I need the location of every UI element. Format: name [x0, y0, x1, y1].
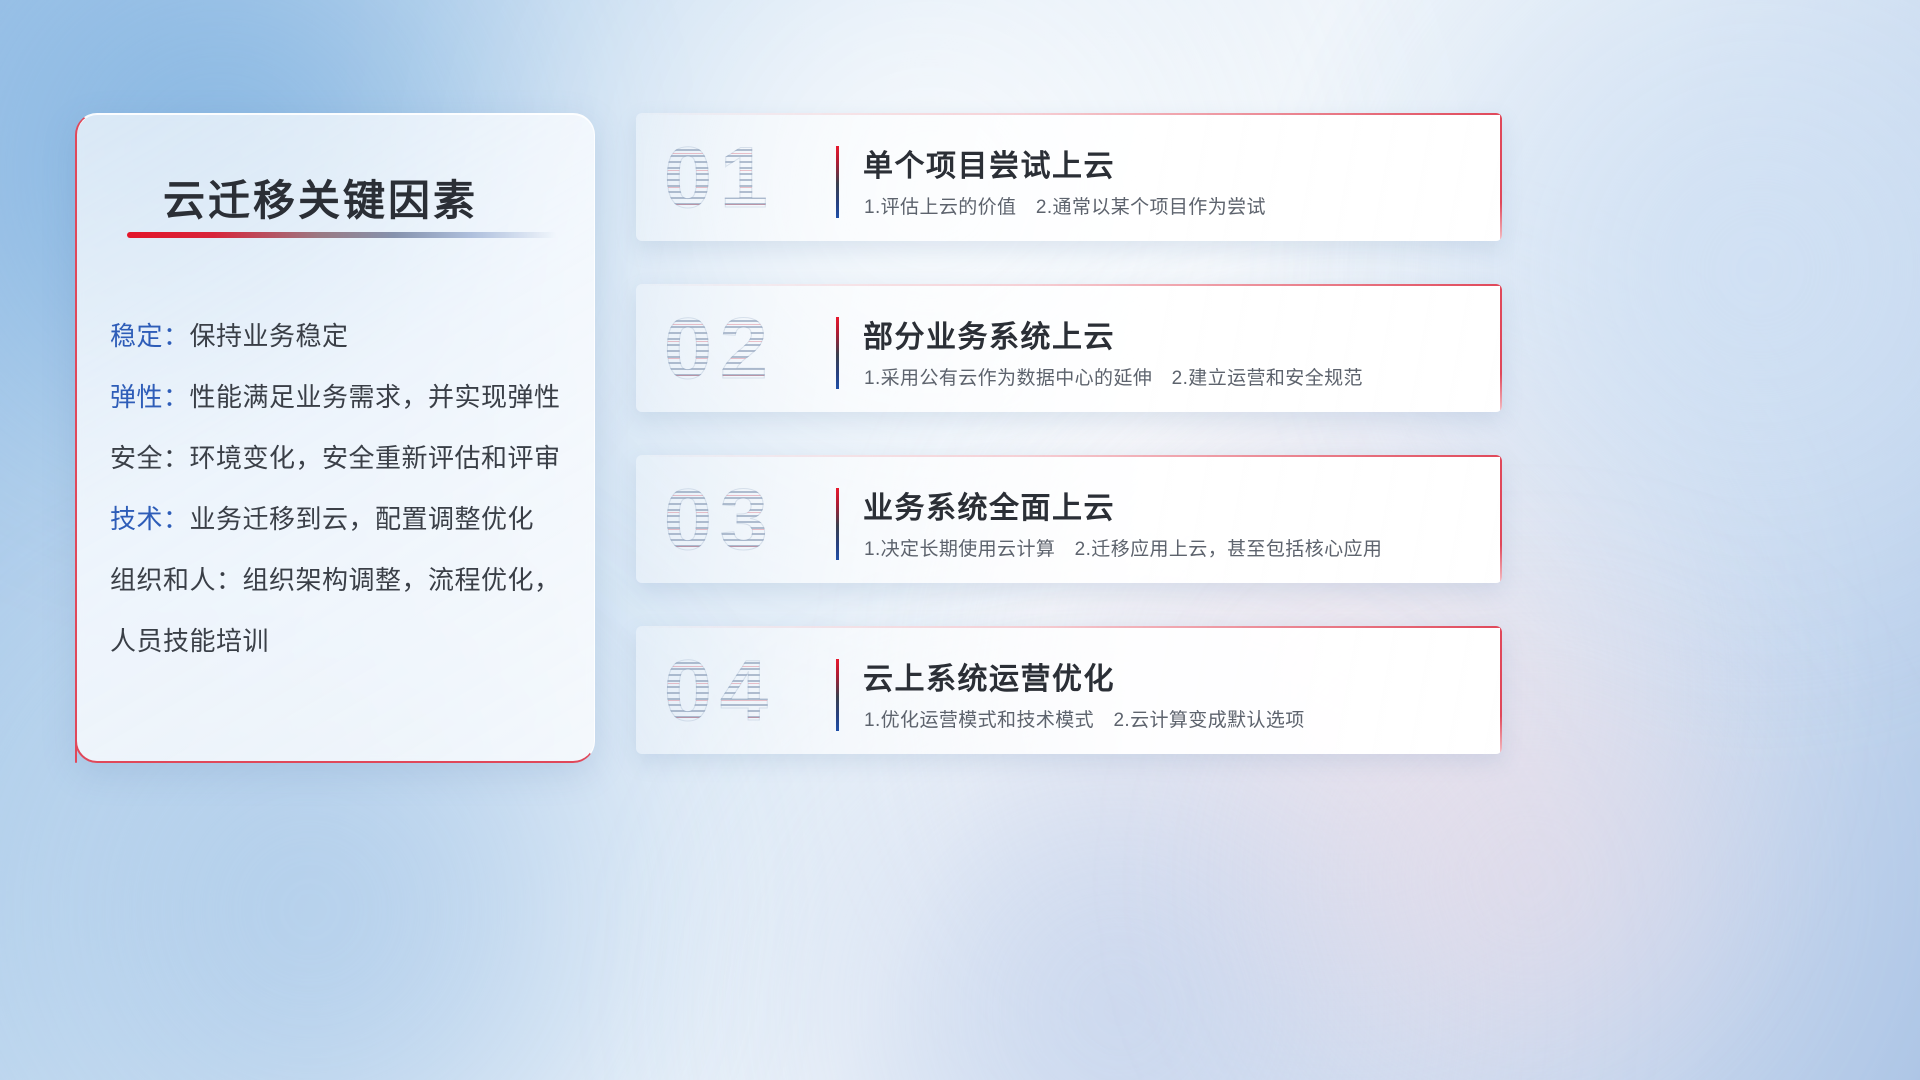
stage-divider-bar	[836, 488, 839, 560]
key-factor-line: 人员技能培训	[110, 611, 574, 672]
stage-number: 01	[664, 119, 776, 237]
key-factor-text: 组织架构调整，流程优化，	[243, 565, 561, 595]
stage-divider-bar	[836, 317, 839, 389]
key-factor-line: 技术：业务迁移到云，配置调整优化	[110, 489, 574, 550]
key-factor-line: 安全：环境变化，安全重新评估和评审	[110, 428, 574, 489]
key-factor-label: 组织和人：	[110, 565, 243, 595]
stage-number: 04	[664, 632, 776, 750]
stage-card-subtitle: 1.采用公有云作为数据中心的延伸 2.建立运营和安全规范	[864, 363, 1363, 390]
stage-card[interactable]: 0404云上系统运营优化1.优化运营模式和技术模式 2.云计算变成默认选项	[636, 626, 1502, 754]
panel-title: 云迁移关键因素	[163, 167, 478, 228]
stage-card-title: 业务系统全面上云	[863, 483, 1115, 527]
key-factor-line: 弹性：性能满足业务需求，并实现弹性	[110, 367, 574, 428]
stage-card-title: 部分业务系统上云	[863, 312, 1115, 356]
stage-card[interactable]: 0101单个项目尝试上云1.评估上云的价值 2.通常以某个项目作为尝试	[636, 113, 1502, 241]
stage-card-subtitle: 1.优化运营模式和技术模式 2.云计算变成默认选项	[864, 705, 1305, 732]
stage-card[interactable]: 0303业务系统全面上云1.决定长期使用云计算 2.迁移应用上云，甚至包括核心应…	[636, 455, 1502, 583]
key-factor-label: 技术：	[110, 504, 190, 534]
key-factor-text: 人员技能培训	[110, 626, 269, 656]
key-factor-label: 弹性：	[110, 382, 190, 412]
stage-number: 02	[664, 290, 776, 408]
key-factor-line: 组织和人：组织架构调整，流程优化，	[110, 550, 574, 611]
stage-card-subtitle: 1.决定长期使用云计算 2.迁移应用上云，甚至包括核心应用	[864, 534, 1382, 561]
key-factors-list: 稳定：保持业务稳定弹性：性能满足业务需求，并实现弹性安全：环境变化，安全重新评估…	[110, 306, 574, 672]
key-factor-line: 稳定：保持业务稳定	[110, 306, 574, 367]
stage-divider-bar	[836, 659, 839, 731]
stage-divider-bar	[836, 146, 839, 218]
key-factor-text: 性能满足业务需求，并实现弹性	[190, 382, 561, 412]
stage-card-title: 云上系统运营优化	[863, 654, 1115, 698]
stage-cards-list: 0101单个项目尝试上云1.评估上云的价值 2.通常以某个项目作为尝试0202部…	[636, 113, 1502, 797]
key-factor-label: 安全：	[110, 443, 190, 473]
key-factor-text: 保持业务稳定	[190, 321, 349, 351]
stage-card-title: 单个项目尝试上云	[863, 141, 1115, 185]
key-factor-text: 环境变化，安全重新评估和评审	[190, 443, 561, 473]
stage-card[interactable]: 0202部分业务系统上云1.采用公有云作为数据中心的延伸 2.建立运营和安全规范	[636, 284, 1502, 412]
stage-number: 03	[664, 461, 776, 579]
key-factor-label: 稳定：	[110, 321, 190, 351]
title-underline-rule	[127, 232, 557, 238]
key-factor-text: 业务迁移到云，配置调整优化	[190, 504, 535, 534]
slide-stage: 云迁移关键因素 稳定：保持业务稳定弹性：性能满足业务需求，并实现弹性安全：环境变…	[0, 0, 1920, 1080]
key-factors-panel: 云迁移关键因素 稳定：保持业务稳定弹性：性能满足业务需求，并实现弹性安全：环境变…	[75, 113, 595, 763]
stage-card-subtitle: 1.评估上云的价值 2.通常以某个项目作为尝试	[864, 192, 1266, 219]
